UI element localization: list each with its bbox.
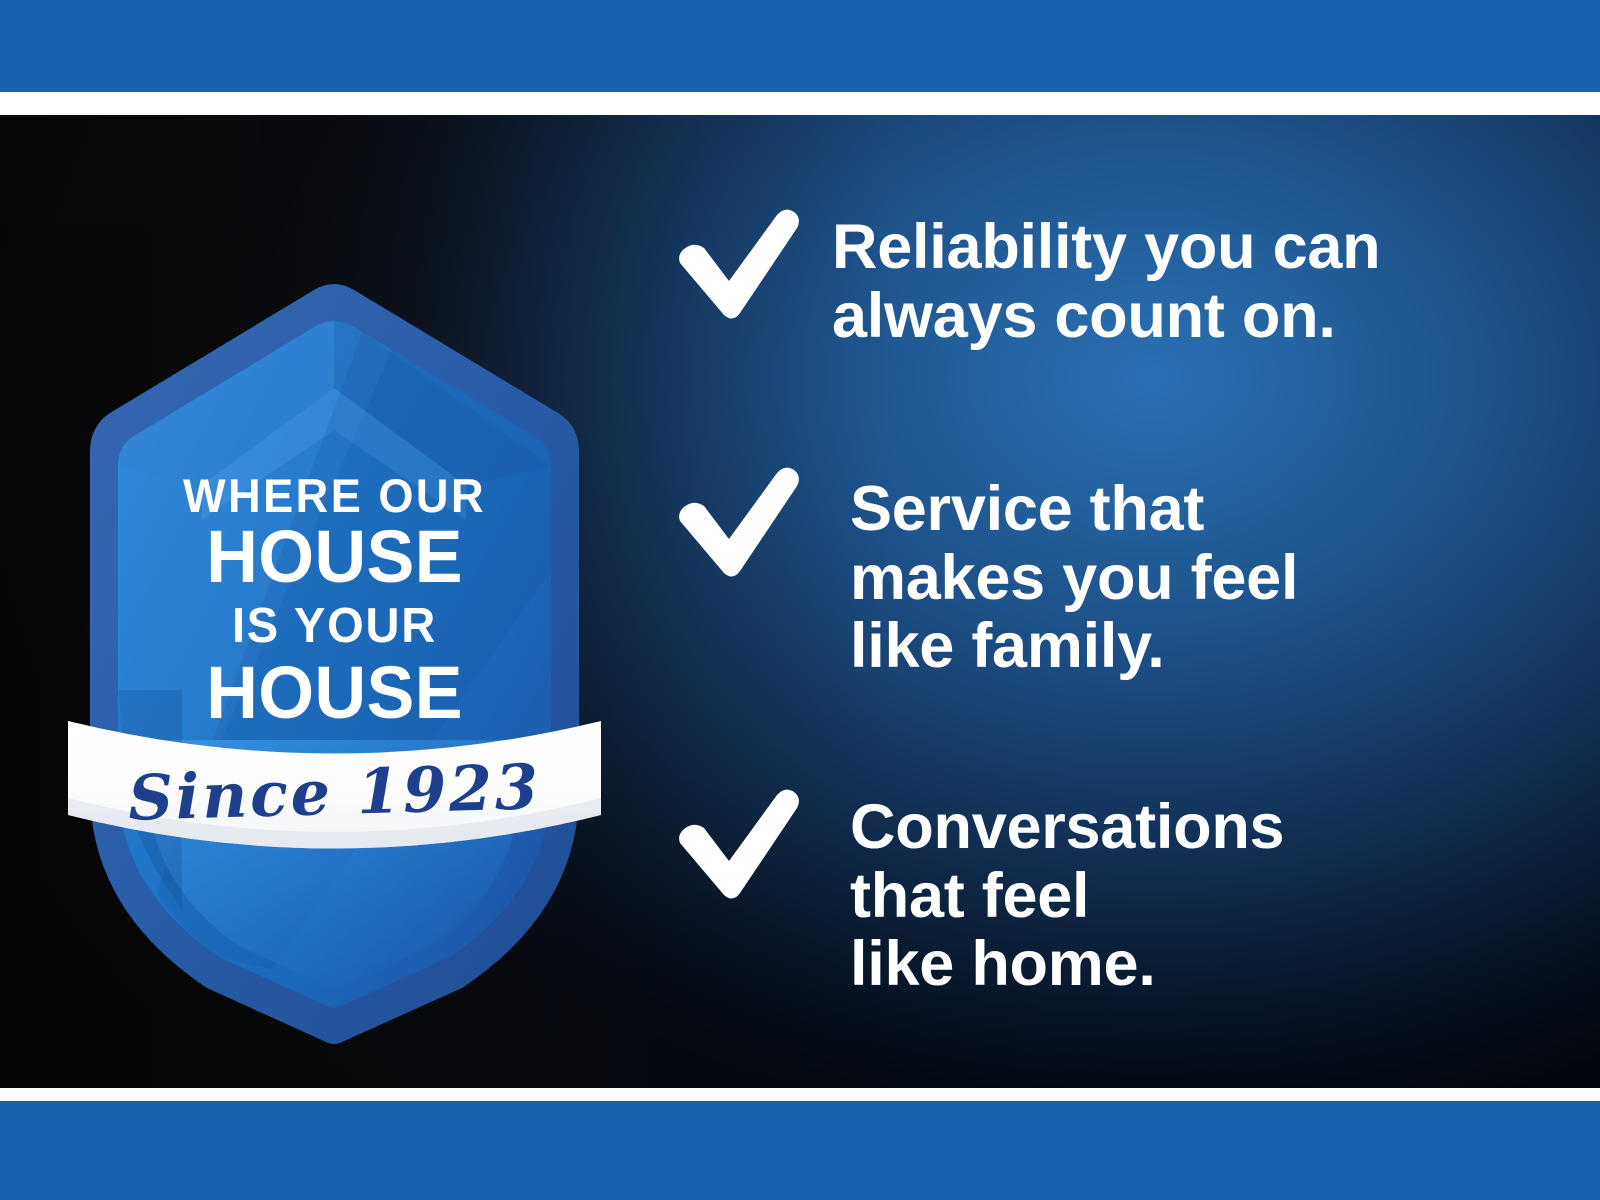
- list-item-text: Service that makes you feel like family.: [850, 475, 1298, 681]
- bottom-brand-bar: [0, 1101, 1600, 1200]
- badge-ribbon-text: Since 1923: [61, 754, 608, 831]
- top-white-divider: [0, 92, 1600, 115]
- badge-line-2: HOUSE: [70, 520, 599, 594]
- badge-line-1: WHERE OUR: [73, 472, 596, 519]
- checkmark-icon: [672, 205, 804, 325]
- promo-graphic: WHERE OUR HOUSE IS YOUR HOUSE Since 1923…: [0, 0, 1600, 1200]
- badge-line-3: IS YOUR: [73, 602, 596, 651]
- checkmark-icon: [672, 785, 804, 905]
- list-item-text: Conversations that feel like home.: [850, 793, 1284, 999]
- shield-badge: WHERE OUR HOUSE IS YOUR HOUSE Since 1923: [62, 270, 607, 1060]
- badge-line-4: HOUSE: [70, 656, 599, 730]
- list-item-text: Reliability you can always count on.: [832, 213, 1380, 350]
- main-canvas: WHERE OUR HOUSE IS YOUR HOUSE Since 1923…: [0, 115, 1600, 1088]
- top-brand-bar: [0, 0, 1600, 92]
- checkmark-icon: [672, 463, 804, 583]
- bottom-white-divider: [0, 1088, 1600, 1101]
